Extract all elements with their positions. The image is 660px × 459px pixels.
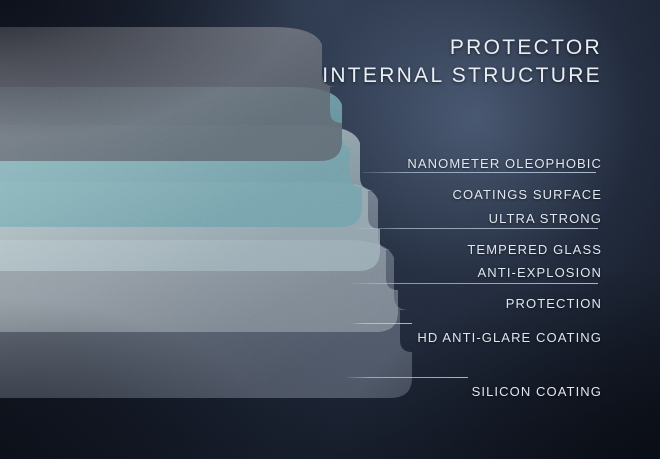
leader-line-hd-anti-glare-coating <box>352 323 412 324</box>
callout-line-1: ANTI-EXPLOSION <box>478 265 602 280</box>
callout-line-1: HD ANTI-GLARE COATING <box>417 330 602 345</box>
callout-line-1: SILICON COATING <box>472 384 602 399</box>
callout-label-silicon-coating: SILICON COATING <box>472 369 602 415</box>
callout-line-2: PROTECTION <box>478 296 602 311</box>
callout-label-hd-anti-glare-coating: HD ANTI-GLARE COATING <box>417 315 602 361</box>
infographic-canvas: PROTECTOR INTERNAL STRUCTURE NANOMETER O… <box>0 0 660 459</box>
callout-line-1: ULTRA STRONG <box>467 211 602 226</box>
callout-group: NANOMETER OLEOPHOBIC COATINGS SURFACE UL… <box>0 0 660 459</box>
leader-line-silicon-coating <box>348 377 468 378</box>
callout-line-1: NANOMETER OLEOPHOBIC <box>407 156 602 171</box>
